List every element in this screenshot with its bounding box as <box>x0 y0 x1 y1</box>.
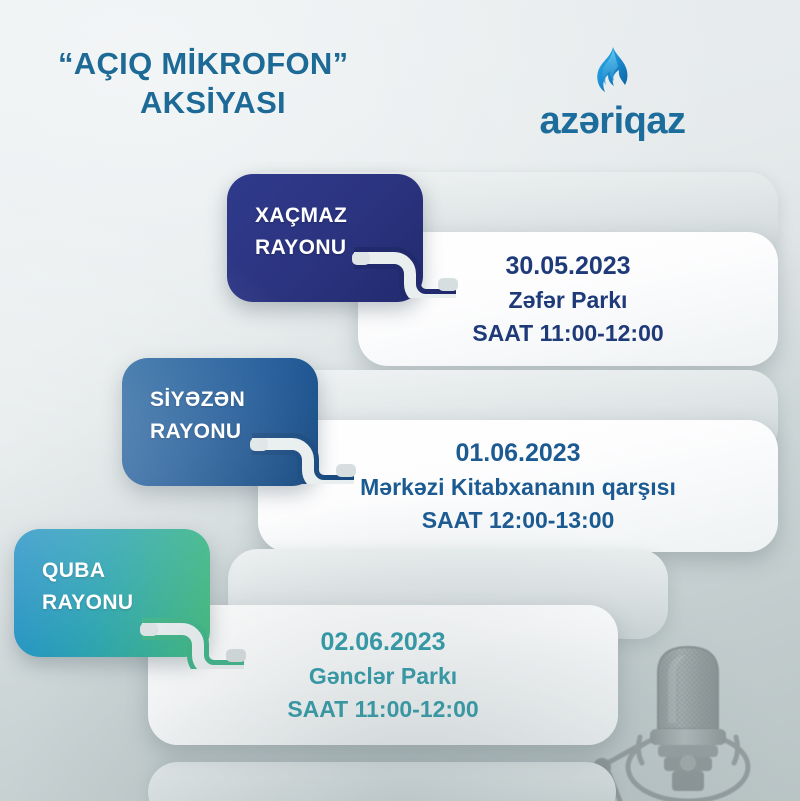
event-row-3: 02.06.2023 Gənclər Parkı SAAT 11:00-12:0… <box>0 523 800 743</box>
azeriqaz-logo: azəriqaz <box>510 46 715 140</box>
title-line-1: “AÇIQ MİKROFON” <box>58 44 478 83</box>
district-line-1: XAÇMAZ <box>255 200 399 232</box>
poster-canvas: “AÇIQ MİKROFON” AKSİYASI azəriqaz <box>0 0 800 801</box>
district-line-2: RAYONU <box>150 416 294 448</box>
district-line-1: QUBA <box>42 555 186 587</box>
event-row-2: 01.06.2023 Mərkəzi Kitabxananın qarşısı … <box>0 352 800 552</box>
event-card-3: 02.06.2023 Gənclər Parkı SAAT 11:00-12:0… <box>148 605 618 745</box>
district-line-2: RAYONU <box>255 232 399 264</box>
event-row-1: 30.05.2023 Zəfər Parkı SAAT 11:00-12:00 … <box>0 168 800 368</box>
district-line-2: RAYONU <box>42 587 186 619</box>
district-tag-quba: QUBA RAYONU <box>14 529 210 657</box>
event-time: SAAT 11:00-12:00 <box>287 693 478 726</box>
flame-icon <box>591 46 635 96</box>
district-tag-siyezen: SİYƏZƏN RAYONU <box>122 358 318 486</box>
event-place: Mərkəzi Kitabxananın qarşısı <box>360 471 676 504</box>
district-line-1: SİYƏZƏN <box>150 384 294 416</box>
decorative-stack-card-bottom <box>148 762 616 801</box>
event-date: 02.06.2023 <box>320 625 445 661</box>
logo-wordmark: azəriqaz <box>510 102 715 140</box>
event-place: Zəfər Parkı <box>509 284 628 317</box>
title-line-2: AKSİYASI <box>140 83 478 122</box>
page-title: “AÇIQ MİKROFON” AKSİYASI <box>58 44 478 123</box>
event-place: Gənclər Parkı <box>309 660 457 693</box>
event-date: 30.05.2023 <box>505 249 630 285</box>
event-date: 01.06.2023 <box>455 436 580 472</box>
event-time: SAAT 11:00-12:00 <box>472 317 663 350</box>
district-tag-xacmaz: XAÇMAZ RAYONU <box>227 174 423 302</box>
